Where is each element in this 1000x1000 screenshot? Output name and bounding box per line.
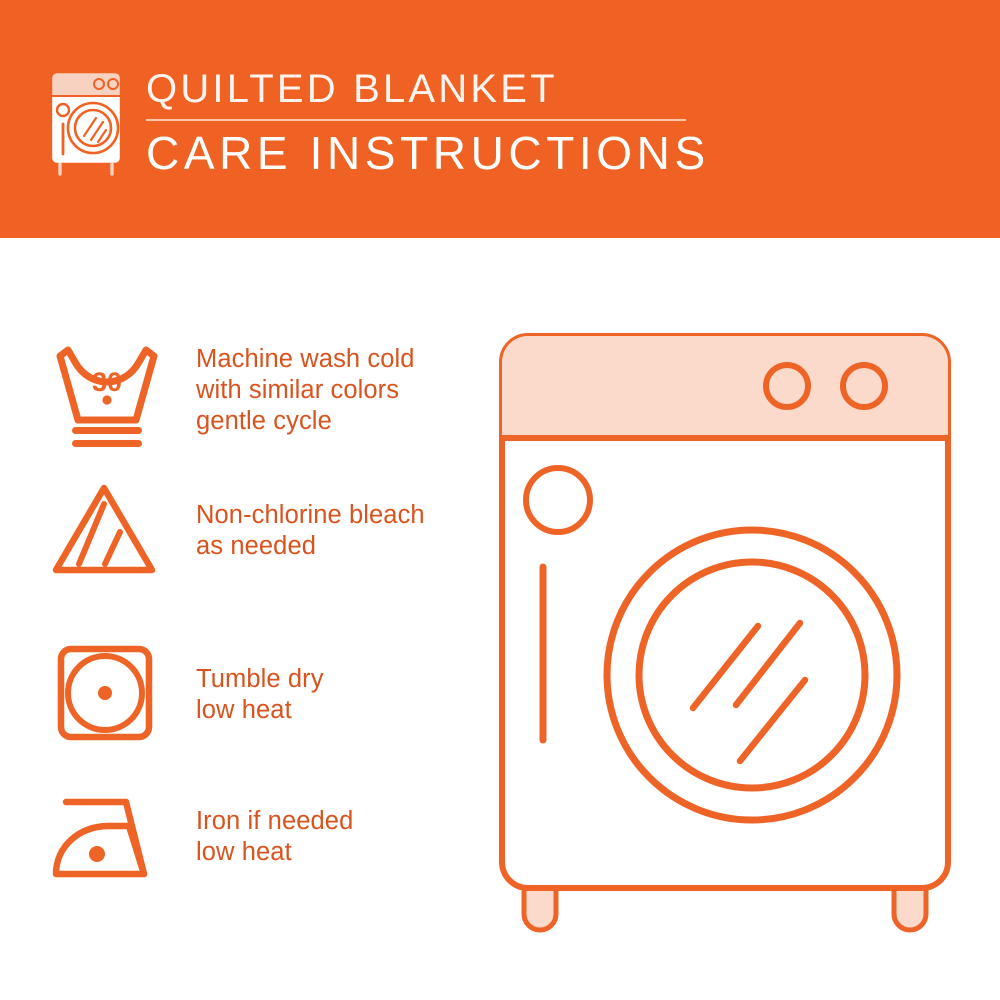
care-text-line: Machine wash cold	[196, 344, 415, 375]
care-text-line: Iron if needed	[196, 806, 353, 837]
title-divider	[146, 119, 686, 121]
front-load-washing-machine-illustration	[490, 320, 970, 940]
care-text-line: Non-chlorine bleach	[196, 500, 425, 531]
care-instructions-list: 30 Machine wash cold with similar colors…	[0, 238, 500, 1000]
page-title-product: QUILTED BLANKET	[146, 66, 706, 112]
non-chlorine-bleach-triangle-icon	[48, 478, 178, 582]
wash-tub-30-gentle-icon: 30	[48, 342, 178, 454]
wash-temperature-value: 30	[92, 367, 122, 397]
care-row-machine-wash: 30 Machine wash cold with similar colors…	[48, 342, 478, 454]
care-text-line: gentle cycle	[196, 406, 415, 437]
care-text-iron: Iron if needed low heat	[178, 790, 353, 868]
care-row-iron: Iron if needed low heat	[48, 790, 478, 886]
care-text-machine-wash: Machine wash cold with similar colors ge…	[178, 342, 415, 437]
care-text-line: as needed	[196, 531, 425, 562]
washing-machine-icon	[44, 68, 136, 178]
header-title-group: QUILTED BLANKET CARE INSTRUCTIONS	[146, 66, 706, 179]
care-text-bleach: Non-chlorine bleach as needed	[178, 478, 425, 562]
control-panel	[502, 336, 948, 438]
care-text-line: with similar colors	[196, 375, 415, 406]
care-text-line: Tumble dry	[196, 664, 324, 695]
care-text-line: low heat	[196, 695, 324, 726]
page-title-main: CARE INSTRUCTIONS	[146, 127, 706, 179]
tumble-dry-low-heat-icon	[48, 640, 178, 744]
care-text-line: low heat	[196, 837, 353, 868]
care-text-tumble-dry: Tumble dry low heat	[178, 640, 324, 726]
care-row-bleach: Non-chlorine bleach as needed	[48, 478, 478, 582]
care-row-tumble-dry: Tumble dry low heat	[48, 640, 478, 744]
iron-low-heat-icon	[48, 790, 178, 886]
header-banner: QUILTED BLANKET CARE INSTRUCTIONS	[0, 0, 1000, 238]
